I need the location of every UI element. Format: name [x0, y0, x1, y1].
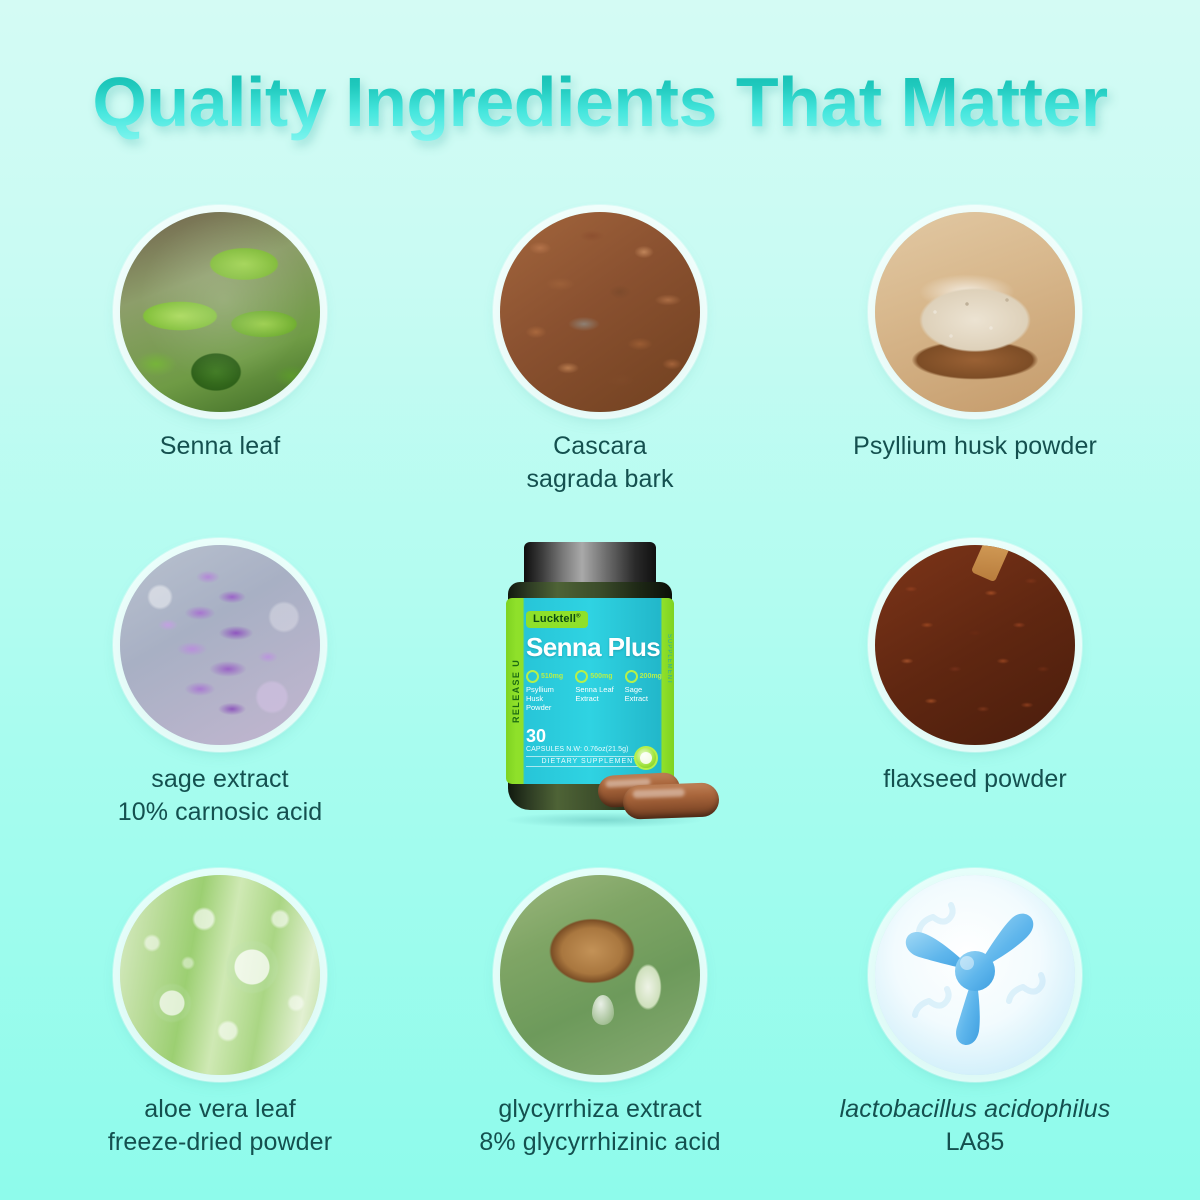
callout-name: Psyllium Husk Powder	[526, 685, 569, 712]
caption-line-1: Psyllium husk powder	[785, 430, 1165, 463]
page-title-wrapper: Quality Ingredients That Matter	[0, 62, 1200, 142]
ingredient-caption-cascara: Cascara sagrada bark	[410, 430, 790, 496]
species-name: lactobacillus acidophilus	[840, 1095, 1111, 1123]
callout-header: 500mg	[575, 670, 618, 683]
infographic-page: Quality Ingredients That Matter Senna le…	[0, 0, 1200, 1200]
ingredient-image-lactobacillus	[875, 875, 1075, 1075]
caption-line-1: flaxseed powder	[785, 763, 1165, 796]
ingredient-image-senna-leaf	[120, 212, 320, 412]
caption-line-2: 10% carnosic acid	[30, 796, 410, 829]
seal-inner	[640, 752, 652, 764]
callout-header: 200mg	[625, 670, 668, 683]
net-weight-text: CAPSULES N.W: 0.76oz(21.5g)	[526, 746, 629, 753]
ingredient-caption-senna-leaf: Senna leaf	[30, 430, 410, 463]
leaf-circle-icon	[526, 670, 539, 683]
ingredient-image-psyllium	[875, 212, 1075, 412]
ingredient-caption-glycyrrhiza: glycyrrhiza extract 8% glycyrrhizinic ac…	[410, 1093, 790, 1159]
product-name: Senna Plus	[526, 632, 660, 663]
ingredient-caption-flaxseed: flaxseed powder	[785, 763, 1165, 796]
callout-name-line-2: Husk Powder	[526, 694, 569, 712]
ingredient-image-cascara	[500, 212, 700, 412]
brand-badge: Lucktell®	[526, 611, 588, 628]
callout-dose: 500mg	[590, 673, 612, 680]
bottle-label: RELEASE U SUPPLEMENT Lucktell® Senna Plu…	[506, 598, 674, 784]
ingredient-card-glycyrrhiza: glycyrrhiza extract 8% glycyrrhizinic ac…	[410, 875, 790, 1159]
senna-leaf-photo	[120, 212, 320, 412]
ingredient-card-senna-leaf: Senna leaf	[30, 212, 410, 463]
ingredient-card-flaxseed: flaxseed powder	[785, 545, 1165, 796]
glycyrrhiza-photo	[500, 875, 700, 1075]
product-bottle-group: RELEASE U SUPPLEMENT Lucktell® Senna Plu…	[478, 528, 728, 838]
caption-line-1: aloe vera leaf	[30, 1093, 410, 1126]
caption-line-1: lactobacillus acidophilus	[785, 1093, 1165, 1126]
callout-name: Senna Leaf Extract	[575, 685, 618, 703]
ingredient-image-sage	[120, 545, 320, 745]
ingredient-caption-psyllium: Psyllium husk powder	[785, 430, 1165, 463]
ingredient-card-aloe-vera: aloe vera leaf freeze-dried powder	[30, 875, 410, 1159]
label-content: Lucktell® Senna Plus 510mg Psyllium Husk…	[526, 598, 660, 784]
supplement-bottle: RELEASE U SUPPLEMENT Lucktell® Senna Plu…	[500, 542, 680, 810]
aloe-vera-photo	[120, 875, 320, 1075]
callout-dose: 200mg	[640, 673, 662, 680]
page-title: Quality Ingredients That Matter	[92, 62, 1107, 142]
ingredient-caption-lactobacillus: lactobacillus acidophilus LA85	[785, 1093, 1165, 1159]
caption-line-1: sage extract	[30, 763, 410, 796]
ingredient-card-psyllium: Psyllium husk powder	[785, 212, 1165, 463]
lactobacillus-illustration	[875, 875, 1075, 1075]
callout-psyllium: 510mg Psyllium Husk Powder	[526, 670, 569, 712]
leaf-circle-icon	[575, 670, 588, 683]
callout-name-line-1: Psyllium	[526, 685, 569, 694]
callout-sage: 200mg Sage Extract	[625, 670, 668, 712]
cascara-bark-photo	[500, 212, 700, 412]
registered-mark: ®	[576, 613, 581, 619]
leaf-circle-icon	[625, 670, 638, 683]
ingredient-image-aloe-vera	[120, 875, 320, 1075]
caption-line-2: LA85	[785, 1126, 1165, 1159]
callout-name-line-1: Senna Leaf	[575, 685, 618, 694]
ingredient-card-lactobacillus: lactobacillus acidophilus LA85	[785, 875, 1165, 1159]
bacteria-icon	[875, 875, 1075, 1075]
ingredient-card-sage: sage extract 10% carnosic acid	[30, 545, 410, 829]
caption-line-1: glycyrrhiza extract	[410, 1093, 790, 1126]
ingredient-caption-sage: sage extract 10% carnosic acid	[30, 763, 410, 829]
callout-senna-leaf: 500mg Senna Leaf Extract	[575, 670, 618, 712]
capsule-count: 30	[526, 726, 546, 747]
label-callouts: 510mg Psyllium Husk Powder 500mg	[526, 670, 668, 712]
callout-dose: 510mg	[541, 673, 563, 680]
callout-name-line-2: Extract	[625, 694, 668, 703]
sage-flower-photo	[120, 545, 320, 745]
release-u-text: RELEASE U	[508, 626, 524, 756]
caption-line-1: Senna leaf	[30, 430, 410, 463]
ingredient-image-glycyrrhiza	[500, 875, 700, 1075]
caption-line-1: Cascara	[410, 430, 790, 463]
caption-line-2: sagrada bark	[410, 463, 790, 496]
caption-line-2: freeze-dried powder	[30, 1126, 410, 1159]
callout-name-line-1: Sage	[625, 685, 668, 694]
brand-name: Lucktell	[533, 613, 576, 625]
capsule-front	[622, 782, 719, 819]
quality-seal-icon	[634, 746, 658, 770]
flaxseed-photo	[875, 545, 1075, 745]
psyllium-husk-photo	[875, 212, 1075, 412]
ingredient-card-cascara: Cascara sagrada bark	[410, 212, 790, 496]
ingredient-image-flaxseed	[875, 545, 1075, 745]
callout-name-line-2: Extract	[575, 694, 618, 703]
ingredient-caption-aloe-vera: aloe vera leaf freeze-dried powder	[30, 1093, 410, 1159]
callout-name: Sage Extract	[625, 685, 668, 703]
callout-header: 510mg	[526, 670, 569, 683]
caption-line-2: 8% glycyrrhizinic acid	[410, 1126, 790, 1159]
